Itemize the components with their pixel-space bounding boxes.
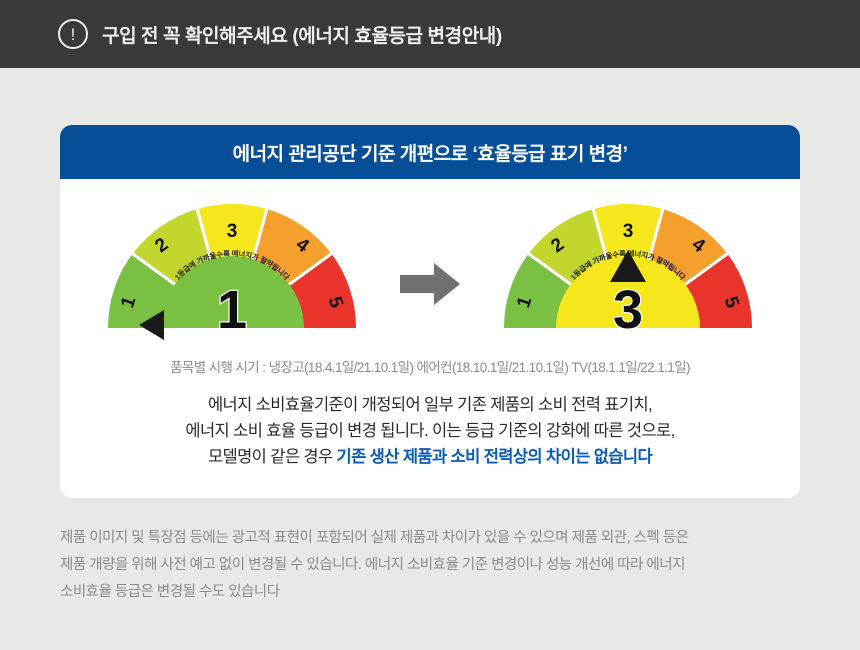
before-grade-value: 1 — [217, 280, 247, 340]
after-grade-label-3: 3 — [623, 221, 634, 242]
body-line-1: 에너지 소비효율기준이 개정되어 일부 기존 제품의 소비 전력 표기치, — [60, 392, 800, 418]
before-gauge-svg: 1 2 3 4 5 1등급에 가까울수록 에너지가 절약됩니다 1 — [102, 200, 362, 340]
after-grade-value: 3 — [613, 280, 643, 340]
body-line-3: 모델명이 같은 경우 기존 생산 제품과 소비 전력상의 차이는 없습니다 — [60, 444, 800, 470]
after-gauge: 1 2 3 4 5 1등급에 가까울수록 에너지가 절약됩니다 3 — [498, 200, 758, 340]
topbar-title: 구입 전 꼭 확인해주세요 (에너지 효율등급 변경안내) — [102, 21, 502, 48]
disclaimer-line-2: 제품 개량을 위해 사전 예고 없이 변경될 수 있습니다. 에너지 소비효율 … — [60, 552, 800, 579]
notice-topbar: ! 구입 전 꼭 확인해주세요 (에너지 효율등급 변경안내) — [0, 0, 860, 68]
card-header: 에너지 관리공단 기준 개편으로 ‘효율등급 표기 변경’ — [60, 125, 800, 179]
disclaimer-line-1: 제품 이미지 및 특장점 등에는 광고적 표현이 포함되어 실제 제품과 차이가… — [60, 525, 800, 552]
body-line-2: 에너지 소비 효율 등급이 변경 됩니다. 이는 등급 기준의 강화에 따른 것… — [60, 418, 800, 444]
exclamation-circle-icon: ! — [58, 19, 88, 49]
topbar-content: ! 구입 전 꼭 확인해주세요 (에너지 효율등급 변경안내) — [58, 19, 502, 49]
after-gauge-svg: 1 2 3 4 5 1등급에 가까울수록 에너지가 절약됩니다 3 — [498, 200, 758, 340]
card-header-title: 에너지 관리공단 기준 개편으로 ‘효율등급 표기 변경’ — [233, 139, 628, 166]
schedule-note: 품목별 시행 시기 : 냉장고(18.4.1일/21.10.1일) 에어컨(18… — [60, 356, 800, 376]
body-copy: 에너지 소비효율기준이 개정되어 일부 기존 제품의 소비 전력 표기치, 에너… — [60, 392, 800, 470]
body-line-3-prefix: 모델명이 같은 경우 — [208, 448, 337, 466]
gauge-comparison: 1 2 3 4 5 1등급에 가까울수록 에너지가 절약됩니다 1 — [60, 179, 800, 354]
before-grade-label-3: 3 — [227, 221, 238, 242]
disclaimer: 제품 이미지 및 특장점 등에는 광고적 표현이 포함되어 실제 제품과 차이가… — [60, 525, 800, 606]
body-line-3-highlight: 기존 생산 제품과 소비 전력상의 차이는 없습니다 — [337, 448, 653, 466]
before-gauge: 1 2 3 4 5 1등급에 가까울수록 에너지가 절약됩니다 1 — [102, 200, 362, 340]
disclaimer-line-3: 소비효율 등급은 변경될 수도 있습니다 — [60, 579, 800, 606]
energy-grade-card: 에너지 관리공단 기준 개편으로 ‘효율등급 표기 변경’ 1 — [60, 125, 800, 498]
right-arrow-icon — [398, 261, 462, 307]
